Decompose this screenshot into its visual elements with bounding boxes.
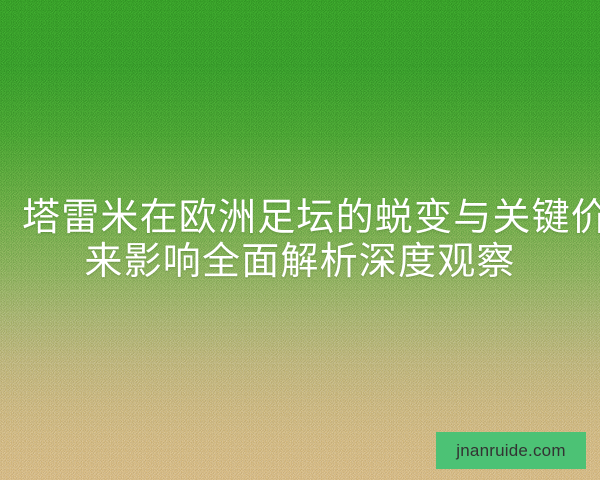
watermark-badge: jnanruide.com <box>436 432 586 469</box>
title-line-2: 来影响全面解析深度观察 <box>22 240 578 284</box>
title-line-1: 塔雷米在欧洲足坛的蜕变与关键价值及未 <box>22 196 578 240</box>
poster-canvas: 塔雷米在欧洲足坛的蜕变与关键价值及未 来影响全面解析深度观察 jnanruide… <box>0 0 600 480</box>
page-title: 塔雷米在欧洲足坛的蜕变与关键价值及未 来影响全面解析深度观察 <box>0 196 600 284</box>
watermark-label: jnanruide.com <box>456 442 565 459</box>
